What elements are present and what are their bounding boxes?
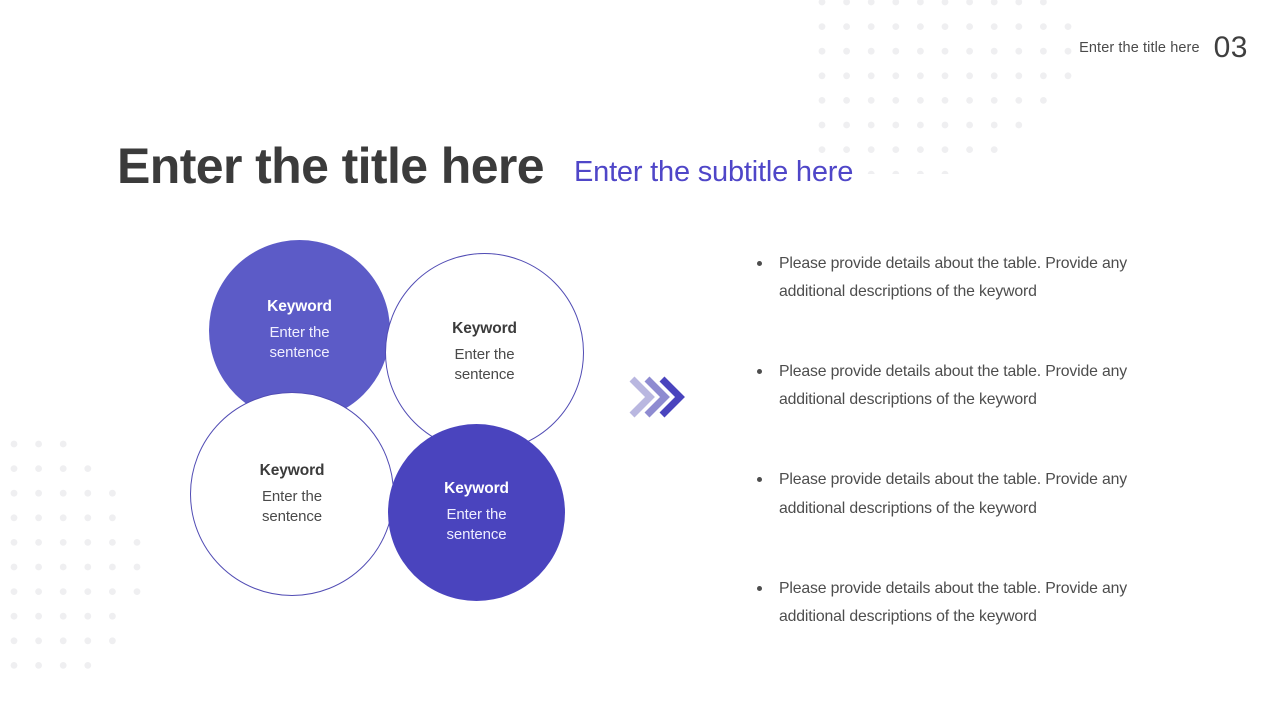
diagram-circle-top-right[interactable]: Keyword Enter the sentence <box>385 253 584 452</box>
bullet-dot-icon <box>757 477 762 482</box>
diagram-circle-bottom-right[interactable]: Keyword Enter the sentence <box>388 424 565 601</box>
list-item: Please provide details about the table. … <box>752 250 1180 306</box>
bullet-dot-icon <box>757 369 762 374</box>
list-item: Please provide details about the table. … <box>752 466 1180 522</box>
bullet-dot-icon <box>757 261 762 266</box>
circle-sentence-line1: Enter the <box>455 346 515 363</box>
list-item-text: Please provide details about the table. … <box>779 255 1127 300</box>
circle-sentence-line2: sentence <box>446 526 506 543</box>
slide-canvas: Enter the title here 03 Enter the title … <box>0 0 1280 720</box>
list-item: Please provide details about the table. … <box>752 575 1180 631</box>
page-subtitle: Enter the subtitle here <box>574 156 853 189</box>
slide-header: Enter the title here 03 <box>1079 33 1248 63</box>
list-item: Please provide details about the table. … <box>752 358 1180 414</box>
circle-sentence-text: Enter the sentence <box>269 323 329 363</box>
dot-pattern-bottom-left-icon <box>2 432 152 682</box>
circle-keyword-label: Keyword <box>444 480 509 498</box>
circle-sentence-text: Enter the sentence <box>262 487 322 527</box>
list-item-text: Please provide details about the table. … <box>779 580 1127 625</box>
title-block: Enter the title here Enter the subtitle … <box>117 104 853 229</box>
page-title: Enter the title here <box>117 138 544 196</box>
circle-sentence-line1: Enter the <box>262 488 322 505</box>
circle-sentence-text: Enter the sentence <box>446 505 506 545</box>
list-item-text: Please provide details about the table. … <box>779 363 1127 408</box>
circle-keyword-label: Keyword <box>452 320 517 338</box>
circle-sentence-text: Enter the sentence <box>454 345 514 385</box>
chevron-right-icon <box>626 368 688 426</box>
circle-sentence-line2: sentence <box>269 344 329 361</box>
description-bullet-list: Please provide details about the table. … <box>752 250 1180 631</box>
circle-sentence-line1: Enter the <box>447 506 507 523</box>
slide-number: 03 <box>1214 33 1248 63</box>
circle-sentence-line1: Enter the <box>270 324 330 341</box>
circle-sentence-line2: sentence <box>454 366 514 383</box>
venn-circle-diagram: Keyword Enter the sentence Keyword Enter… <box>180 225 600 620</box>
header-title: Enter the title here <box>1079 40 1200 56</box>
circle-sentence-line2: sentence <box>262 508 322 525</box>
bullet-dot-icon <box>757 586 762 591</box>
circle-keyword-label: Keyword <box>260 462 325 480</box>
circle-keyword-label: Keyword <box>267 298 332 316</box>
diagram-circle-bottom-left[interactable]: Keyword Enter the sentence <box>190 392 394 596</box>
list-item-text: Please provide details about the table. … <box>779 471 1127 516</box>
